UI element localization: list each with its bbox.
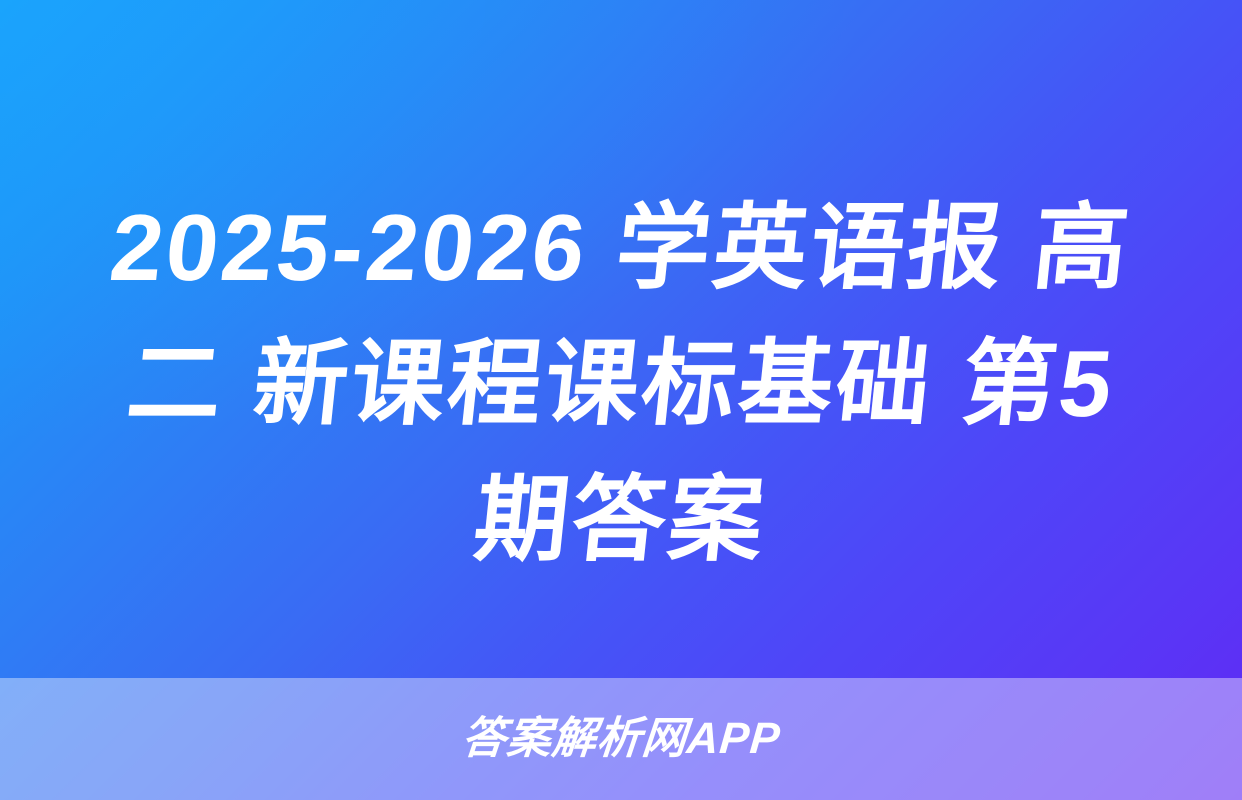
footer-brand-band: 答案解析网APP	[0, 678, 1242, 800]
answer-share-card: 2025-2026 学英语报 高 二 新课程课标基础 第5 期答案 答案解析网A…	[0, 0, 1242, 800]
title-line-2: 二 新课程课标基础 第5	[121, 316, 1122, 452]
title-line-1: 2025-2026 学英语报 高	[104, 180, 1138, 316]
page-title: 2025-2026 学英语报 高 二 新课程课标基础 第5 期答案	[60, 180, 1182, 610]
title-line-3: 期答案	[468, 452, 773, 588]
app-brand-label: 答案解析网APP	[460, 715, 783, 763]
